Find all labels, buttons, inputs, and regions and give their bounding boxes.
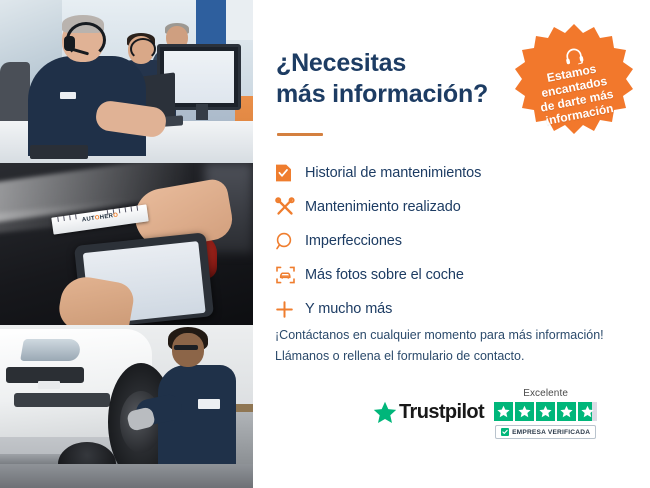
list-item-label: Más fotos sobre el coche xyxy=(305,267,464,283)
employee-name-badge xyxy=(60,92,76,99)
page-title-line-1: ¿Necesitas xyxy=(276,48,526,79)
garage-floor xyxy=(0,464,253,488)
trustpilot-logo[interactable]: Trustpilot xyxy=(373,401,484,424)
title-divider xyxy=(277,133,323,136)
trustpilot-wordmark: Trustpilot xyxy=(399,401,484,424)
list-item: Y mucho más xyxy=(275,292,605,326)
magnifier-icon xyxy=(275,232,305,251)
list-item: Mantenimiento realizado xyxy=(275,190,605,224)
star-filled xyxy=(557,402,576,421)
page-title: ¿Necesitas más información? xyxy=(276,48,526,109)
vehicle-inspection-photo: AUTOHERO xyxy=(0,163,253,326)
document-check-icon xyxy=(275,163,305,183)
list-item: Imperfecciones xyxy=(275,224,605,258)
trustpilot-star-icon xyxy=(373,401,397,424)
list-item: Más fotos sobre el coche xyxy=(275,258,605,292)
list-item-label: Historial de mantenimientos xyxy=(305,165,481,181)
star-filled xyxy=(494,402,513,421)
contact-paragraph-line-1: ¡Contáctanos en cualquier momento para m… xyxy=(275,325,635,346)
tools-icon xyxy=(275,197,305,217)
mechanic-name-badge xyxy=(198,399,220,409)
page-title-line-2: más información? xyxy=(276,79,526,110)
trustpilot-score-block: Excelente xyxy=(494,388,597,439)
wall-panel-light xyxy=(226,0,253,40)
promo-card: AUTOHERO xyxy=(0,0,650,488)
badge-text: Estamos encantados de darte más informac… xyxy=(499,11,649,161)
license-plate xyxy=(38,381,60,389)
list-item-label: Imperfecciones xyxy=(305,233,402,249)
desk-tablet xyxy=(30,145,88,159)
photo-column: AUTOHERO xyxy=(0,0,253,488)
verified-check-icon xyxy=(501,428,509,436)
trustpilot-stars xyxy=(494,402,597,421)
mechanic-wheel-photo xyxy=(0,325,253,488)
bumper-vent xyxy=(14,393,110,407)
call-center-agents-photo xyxy=(0,0,253,163)
monitor-stand xyxy=(196,104,208,120)
plus-icon xyxy=(275,300,305,319)
content-panel: ¿Necesitas más información? Estamos enca… xyxy=(253,0,650,488)
trustpilot-rating[interactable]: Trustpilot Excelente xyxy=(373,388,643,439)
headset-icon-b xyxy=(130,38,156,60)
list-item: Historial de mantenimientos xyxy=(275,156,605,190)
car-photo-frame-icon xyxy=(275,265,305,285)
feature-list: Historial de mantenimientos Mantenimient… xyxy=(275,156,605,326)
mechanic-head xyxy=(172,333,204,367)
star-filled xyxy=(536,402,555,421)
contact-paragraph-line-2: Llámanos o rellena el formulario de cont… xyxy=(275,346,635,367)
list-item-label: Mantenimiento realizado xyxy=(305,199,461,215)
verified-company-badge: EMPRESA VERIFICADA xyxy=(495,425,596,439)
list-item-label: Y mucho más xyxy=(305,301,392,317)
verified-company-label: EMPRESA VERIFICADA xyxy=(512,429,590,436)
star-filled xyxy=(515,402,534,421)
contact-paragraph: ¡Contáctanos en cualquier momento para m… xyxy=(275,325,635,366)
star-partial xyxy=(578,402,597,421)
autohero-ruler-wordmark: AUTOHERO xyxy=(82,212,119,223)
support-starburst-badge: Estamos encantados de darte más informac… xyxy=(510,22,638,150)
car-headlamp xyxy=(20,339,82,361)
safety-glasses xyxy=(174,345,198,350)
trustpilot-rating-label: Excelente xyxy=(523,388,568,399)
